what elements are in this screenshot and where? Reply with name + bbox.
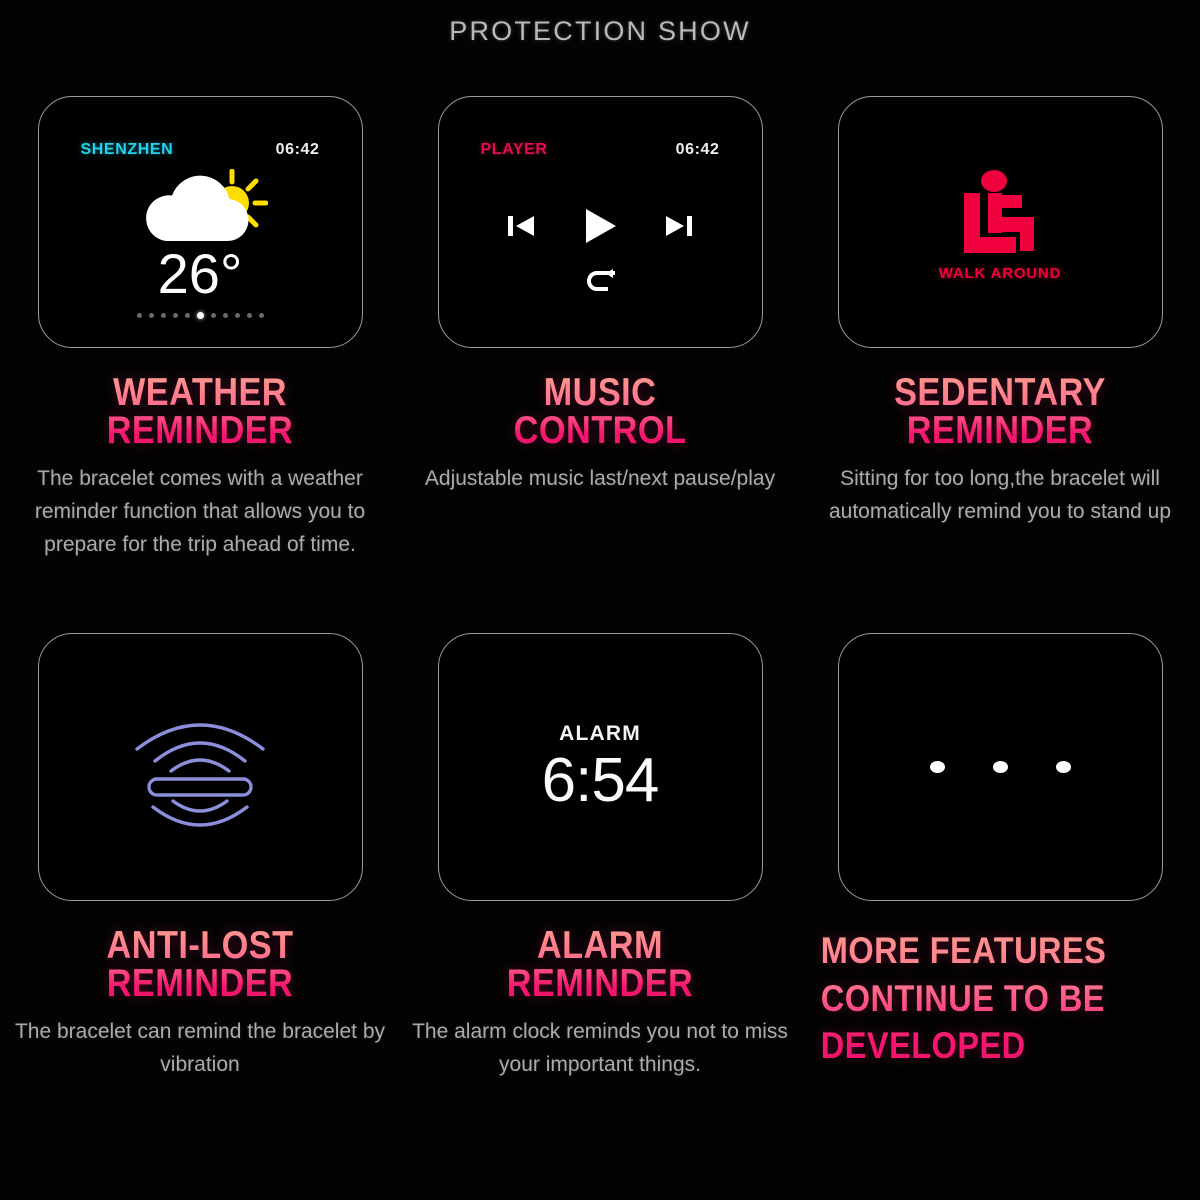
page-title: PROTECTION SHOW [0,16,1200,47]
caption-more-features: MORE FEATURES CONTINUE TO BE DEVELOPED [808,927,1192,1069]
sun-behind-cloud-icon [132,169,268,245]
caption-music: MUSIC CONTROL Adjustable music last/next… [408,374,792,495]
feature-body-alarm: The alarm clock reminds you not to miss … [412,1015,788,1081]
heading-line: CONTROL [435,412,766,450]
vibration-content [39,634,362,900]
heading-line: ANTI-LOST [35,927,366,965]
heading-line: DEVELOPED [821,1022,1143,1069]
feature-body-music: Adjustable music last/next pause/play [412,462,788,495]
feature-card-more-features: MORE FEATURES CONTINUE TO BE DEVELOPED [800,561,1200,1081]
page-dot [173,313,178,318]
feature-heading-anti-lost: ANTI-LOST REMINDER [35,927,366,1003]
next-track-icon[interactable] [665,213,693,239]
caption-alarm: ALARM REMINDER The alarm clock reminds y… [408,927,792,1081]
feature-heading-alarm: ALARM REMINDER [435,927,766,1003]
watch-screen-weather[interactable]: SHENZHEN 06:42 26° [38,96,363,348]
feature-body-sedentary: Sitting for too long,the bracelet will a… [812,462,1188,528]
caption-weather: WEATHER REMINDER The bracelet comes with… [8,374,392,561]
play-icon[interactable] [579,205,621,247]
ellipsis-dot [930,761,945,773]
heading-line: REMINDER [835,412,1166,450]
watch-screen-anti-lost[interactable] [38,633,363,901]
back-arrow-icon[interactable] [583,269,617,295]
player-status-bar: PLAYER 06:42 [439,141,762,159]
page-dot [149,313,154,318]
feature-grid: SHENZHEN 06:42 26° [0,96,1200,1081]
page-dot [185,313,190,318]
protection-show-page: PROTECTION SHOW SHENZHEN 06:42 [0,0,1200,1200]
feature-body-anti-lost: The bracelet can remind the bracelet by … [12,1015,388,1081]
page-dot [161,313,166,318]
page-dot-active [197,312,204,319]
seated-person-icon [952,163,1048,259]
alarm-label: ALARM [559,722,641,746]
player-back-row [439,269,762,295]
feature-heading-sedentary: SEDENTARY REMINDER [835,374,1166,450]
player-label: PLAYER [481,141,548,159]
watch-screen-music[interactable]: PLAYER 06:42 [438,96,763,348]
feature-heading-more-features: MORE FEATURES CONTINUE TO BE DEVELOPED [812,927,1143,1069]
page-dot [247,313,252,318]
feature-card-sedentary: WALK AROUND SEDENTARY REMINDER Sitting f… [800,96,1200,561]
vibration-waves-icon [129,705,271,829]
page-dot [259,313,264,318]
heading-line: CONTINUE TO BE [821,975,1143,1022]
player-time-label: 06:42 [676,141,720,159]
heading-line: MUSIC [435,374,766,412]
feature-card-music: PLAYER 06:42 [400,96,800,561]
three-dots-icon [839,634,1162,900]
feature-card-alarm: ALARM 6:54 ALARM REMINDER The alarm cloc… [400,561,800,1081]
heading-line: SEDENTARY [835,374,1166,412]
feature-card-anti-lost: ANTI-LOST REMINDER The bracelet can remi… [0,561,400,1081]
feature-heading-music: MUSIC CONTROL [435,374,766,450]
caption-sedentary: SEDENTARY REMINDER Sitting for too long,… [808,374,1192,528]
watch-screen-alarm[interactable]: ALARM 6:54 [438,633,763,901]
heading-line: REMINDER [35,412,366,450]
alarm-time: 6:54 [542,748,659,813]
weather-temperature: 26° [39,241,362,306]
page-dot [137,313,142,318]
feature-body-weather: The bracelet comes with a weather remind… [12,462,388,562]
heading-line: ALARM [435,927,766,965]
player-controls [439,205,762,247]
sedentary-content: WALK AROUND [839,97,1162,347]
page-dot [235,313,240,318]
caption-anti-lost: ANTI-LOST REMINDER The bracelet can remi… [8,927,392,1081]
page-dot [211,313,216,318]
sedentary-label: WALK AROUND [939,265,1061,282]
watch-screen-more-features[interactable] [838,633,1163,901]
weather-time-label: 06:42 [276,141,320,159]
heading-line: WEATHER [35,374,366,412]
watch-screen-sedentary[interactable]: WALK AROUND [838,96,1163,348]
weather-status-bar: SHENZHEN 06:42 [39,141,362,159]
weather-city-label: SHENZHEN [81,141,174,159]
heading-line: REMINDER [435,965,766,1003]
previous-track-icon[interactable] [507,213,535,239]
page-dot [223,313,228,318]
weather-page-indicator[interactable] [39,312,362,319]
heading-line: REMINDER [35,965,366,1003]
heading-line: MORE FEATURES [821,927,1143,974]
ellipsis-dot [1056,761,1071,773]
feature-card-weather: SHENZHEN 06:42 26° [0,96,400,561]
feature-heading-weather: WEATHER REMINDER [35,374,366,450]
ellipsis-dot [993,761,1008,773]
alarm-content: ALARM 6:54 [439,634,762,900]
